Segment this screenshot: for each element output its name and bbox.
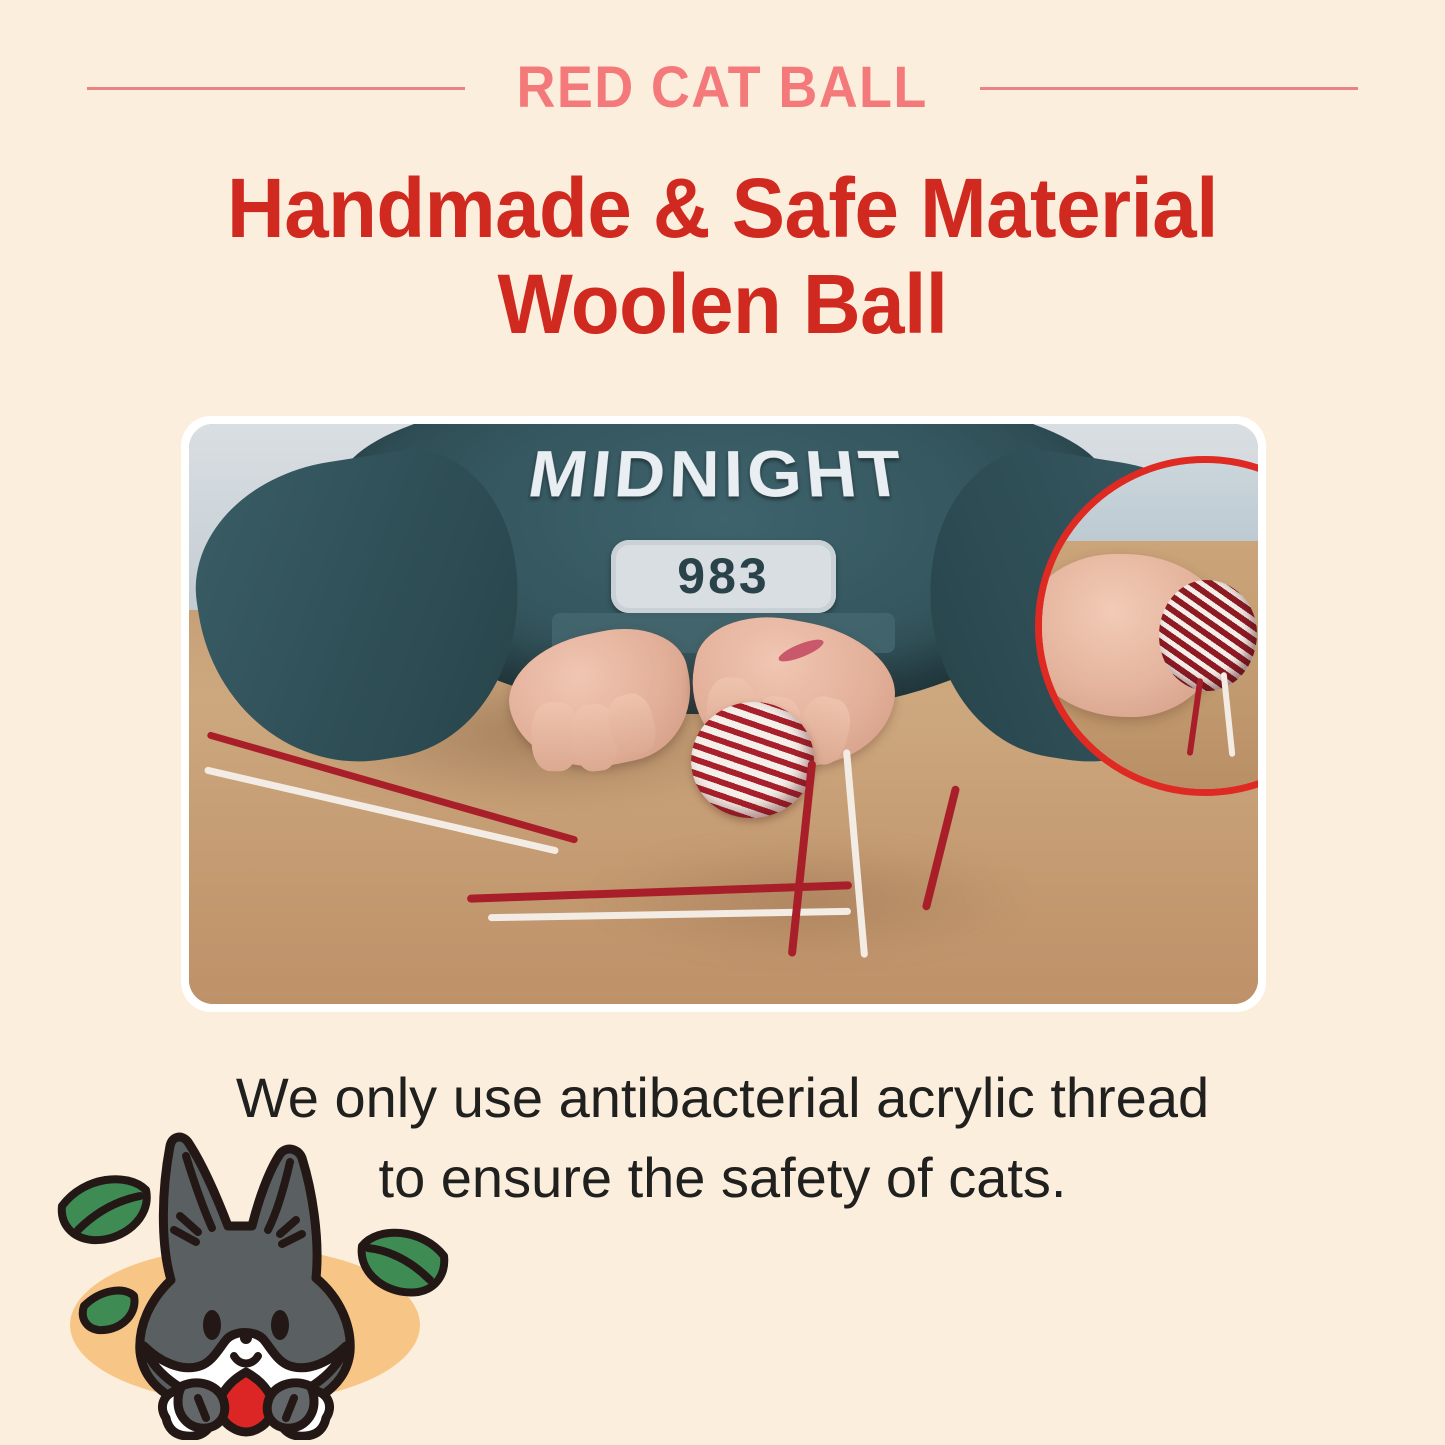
mascot-nose <box>240 1332 252 1344</box>
mascot-eye-left <box>203 1310 221 1340</box>
page-title: Handmade & Safe Material Woolen Ball <box>0 160 1445 352</box>
eyebrow-header: RED CAT BALL <box>0 52 1445 124</box>
sweatshirt-number: 983 <box>677 547 769 605</box>
product-photo: MIDNIGHT 983 <box>189 424 1258 1004</box>
title-line-2: Woolen Ball <box>36 256 1409 352</box>
mascot-paw-right <box>267 1383 329 1436</box>
cat-mascot <box>40 1110 470 1440</box>
eyebrow-label: RED CAT BALL <box>517 59 928 117</box>
title-line-1: Handmade & Safe Material <box>36 160 1409 256</box>
leaf-icon-left-bottom <box>83 1291 135 1331</box>
infographic-page: RED CAT BALL Handmade & Safe Material Wo… <box>0 0 1445 1445</box>
photo-table-shadow-2 <box>595 842 1023 958</box>
eyebrow-rule-left <box>87 87 465 90</box>
mascot-paw-left <box>162 1383 224 1436</box>
leaf-icon-right <box>362 1233 445 1293</box>
mascot-eye-right <box>271 1310 289 1340</box>
leaf-icon-left-top <box>62 1179 147 1240</box>
eyebrow-rule-right <box>980 87 1358 90</box>
photo-closeup-inset <box>1035 456 1258 796</box>
photo-frame: MIDNIGHT 983 <box>181 416 1266 1012</box>
sweatshirt-patch: 983 <box>611 540 835 613</box>
